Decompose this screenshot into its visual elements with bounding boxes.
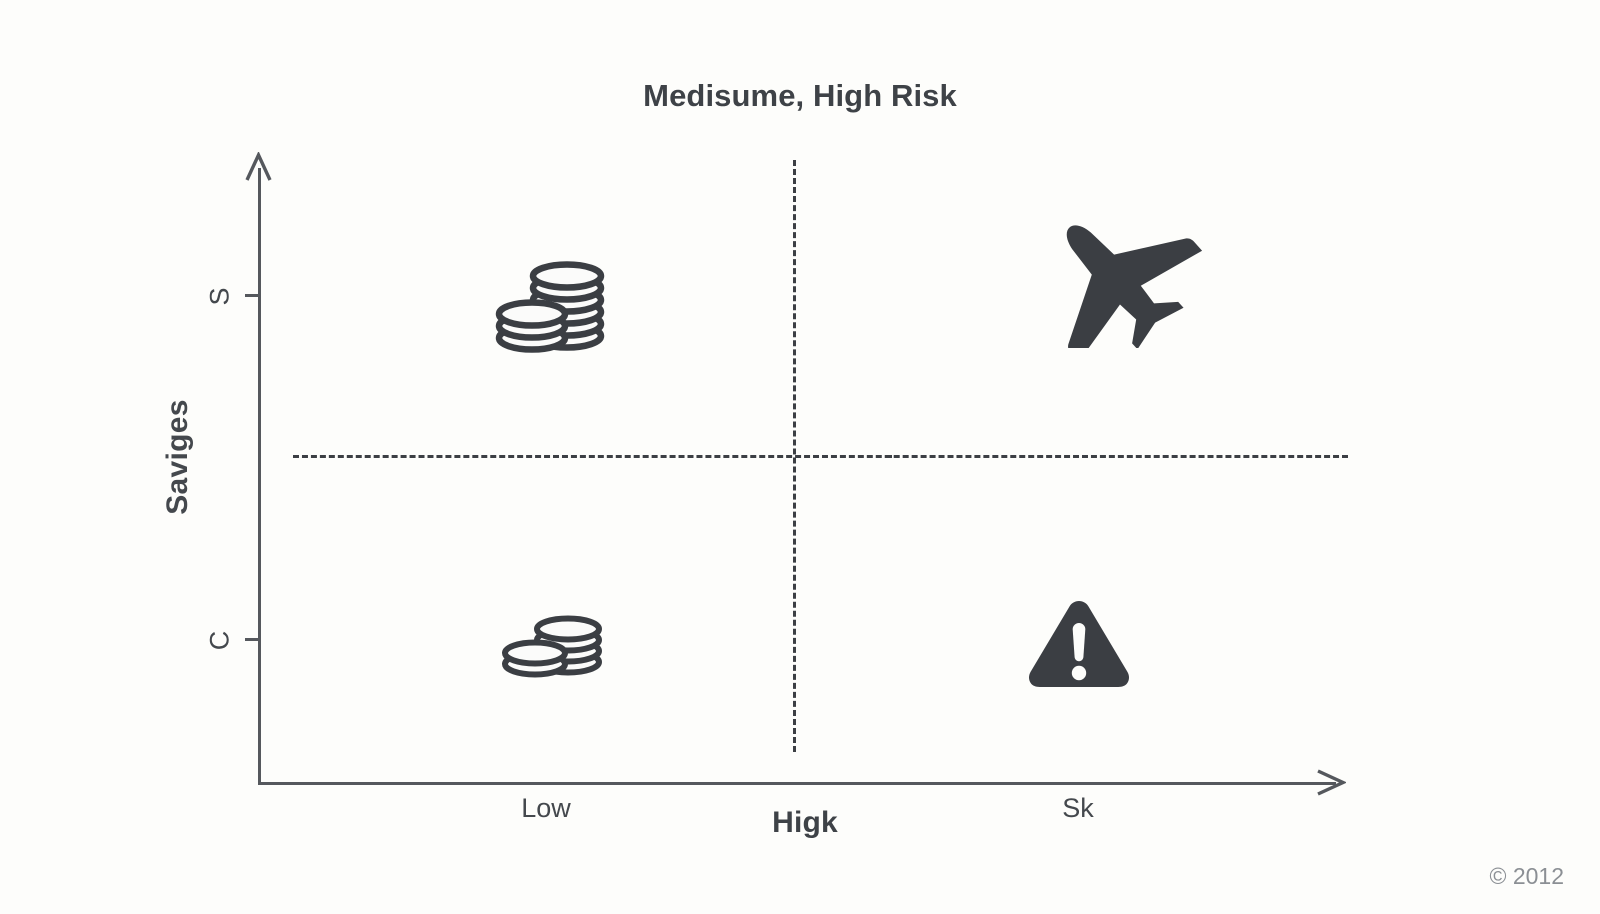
x-axis-category-label-high: Sk <box>988 793 1168 824</box>
y-axis-tick-lower <box>245 638 259 641</box>
x-axis-arrow-icon <box>1316 769 1346 796</box>
quadrant-divider-vertical <box>793 160 796 752</box>
y-axis-tick-label-lower: C <box>205 621 236 661</box>
y-axis-line <box>258 168 261 785</box>
quadrant-chart: Medisume, High Risk S C Saviges Higk Low… <box>0 0 1600 914</box>
y-axis-tick-upper <box>245 294 259 297</box>
x-axis-line <box>258 782 1336 785</box>
x-axis-category-label-low: Low <box>456 793 636 824</box>
page-title: Medisume, High Risk <box>0 78 1600 114</box>
x-axis-title: Higk <box>700 806 910 840</box>
divider-dot-artifact <box>888 455 892 458</box>
y-axis-title: Saviges <box>161 357 195 557</box>
copyright-notice: © 2012 <box>1489 863 1564 890</box>
coins-icon <box>500 598 605 678</box>
warning-triangle-icon <box>1026 597 1132 687</box>
y-axis-arrow-icon <box>245 152 272 182</box>
airplane-icon <box>1026 208 1204 348</box>
quadrant-divider-horizontal <box>293 455 1348 458</box>
y-axis-tick-label-upper: S <box>205 277 236 317</box>
coins-icon <box>495 258 607 354</box>
